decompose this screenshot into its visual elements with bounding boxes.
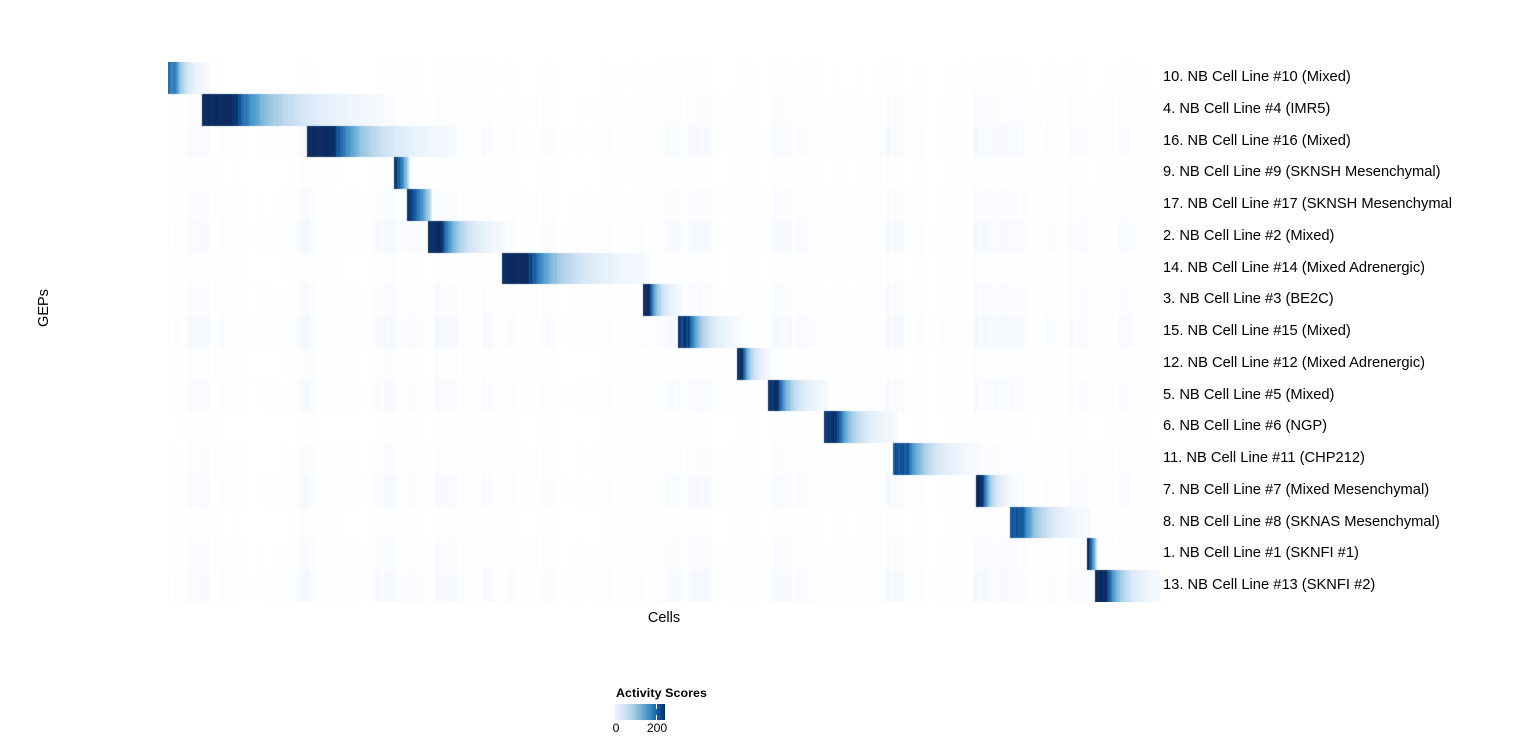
row-label: 10. NB Cell Line #10 (Mixed) — [1163, 62, 1351, 94]
heatmap-figure: GEPs Cells 10. NB Cell Line #10 (Mixed)4… — [0, 0, 1540, 743]
row-label: 15. NB Cell Line #15 (Mixed) — [1163, 316, 1351, 348]
colorbar-tick-200 — [656, 704, 657, 709]
row-label: 12. NB Cell Line #12 (Mixed Adrenergic) — [1163, 348, 1425, 380]
colorbar-tick-label-0: 0 — [613, 721, 620, 735]
row-label: 17. NB Cell Line #17 (SKNSH Mesenchymal — [1163, 189, 1452, 221]
row-label-list: 10. NB Cell Line #10 (Mixed)4. NB Cell L… — [1163, 62, 1540, 602]
heatmap-canvas — [168, 62, 1160, 602]
row-label: 7. NB Cell Line #7 (Mixed Mesenchymal) — [1163, 475, 1429, 507]
row-label: 3. NB Cell Line #3 (BE2C) — [1163, 284, 1334, 316]
colorbar-gradient — [613, 704, 665, 720]
row-label: 8. NB Cell Line #8 (SKNAS Mesenchymal) — [1163, 507, 1440, 539]
heatmap-plot-area — [168, 62, 1160, 602]
row-label: 5. NB Cell Line #5 (Mixed) — [1163, 380, 1334, 412]
row-label: 1. NB Cell Line #1 (SKNFI #1) — [1163, 538, 1359, 570]
y-axis-label: GEPs — [36, 248, 52, 368]
row-label: 13. NB Cell Line #13 (SKNFI #2) — [1163, 570, 1375, 602]
colorbar-title: Activity Scores — [616, 686, 707, 700]
row-label: 16. NB Cell Line #16 (Mixed) — [1163, 126, 1351, 158]
row-label: 9. NB Cell Line #9 (SKNSH Mesenchymal) — [1163, 157, 1441, 189]
colorbar-tick-0 — [613, 704, 614, 709]
colorbar-tick-label-200: 200 — [647, 721, 667, 735]
colorbar-legend: Activity Scores 0 200 — [613, 686, 833, 738]
row-label: 11. NB Cell Line #11 (CHP212) — [1163, 443, 1365, 475]
row-label: 6. NB Cell Line #6 (NGP) — [1163, 411, 1327, 443]
row-label: 2. NB Cell Line #2 (Mixed) — [1163, 221, 1334, 253]
x-axis-label: Cells — [568, 610, 760, 626]
colorbar-tick-200-bottom — [656, 715, 657, 720]
colorbar-tick-0-bottom — [613, 715, 614, 720]
row-label: 14. NB Cell Line #14 (Mixed Adrenergic) — [1163, 253, 1425, 285]
row-label: 4. NB Cell Line #4 (IMR5) — [1163, 94, 1330, 126]
